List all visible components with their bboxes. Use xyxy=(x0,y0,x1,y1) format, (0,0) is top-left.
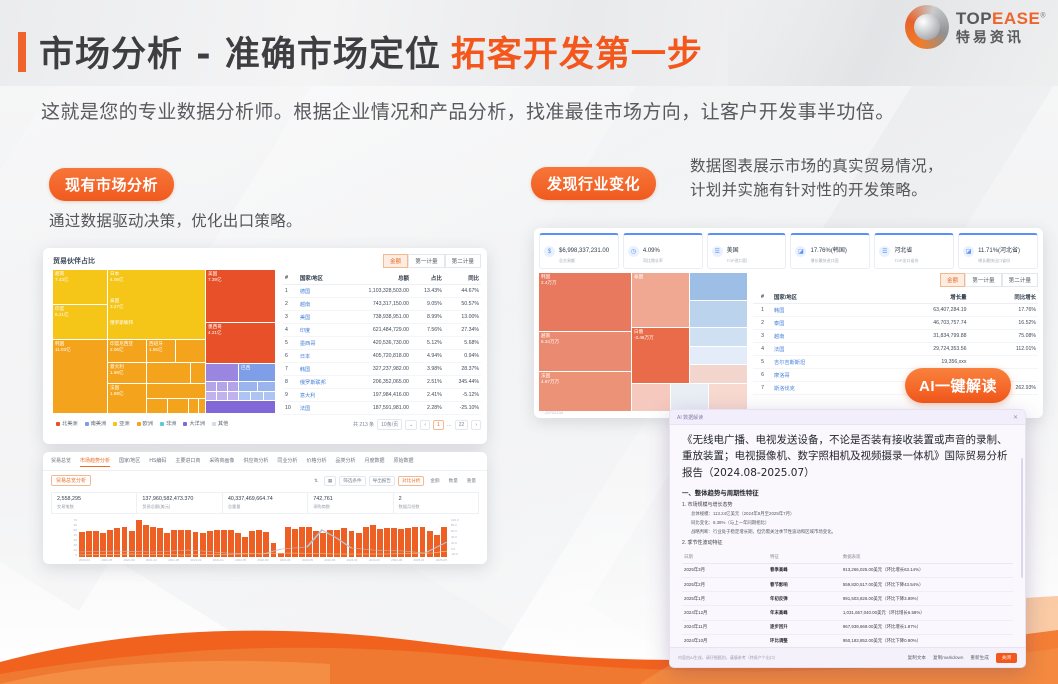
table-row[interactable]: 6日本405,720,818.004.94%0.94% xyxy=(283,350,481,363)
list-icon: ☰ xyxy=(712,246,723,257)
cell-yoy: 44.67% xyxy=(444,285,481,298)
tm-value: 7.43亿 xyxy=(55,277,69,283)
footer-disclaimer: 内容由AI生成，请仔细甄别，谨慎参考（特易产个出口） xyxy=(678,655,778,661)
x-tick: 2024-09 xyxy=(391,558,402,565)
cell-date: 2024年12月 xyxy=(682,606,768,620)
cell-yoy: 0.94% xyxy=(444,350,481,363)
kpi-label: 同比增长率 xyxy=(643,258,663,264)
table-row[interactable]: 3美国738,938,951.008.99%13.00% xyxy=(283,311,481,324)
cell-country[interactable]: 法国 xyxy=(772,343,867,356)
y2-tick: 100.0 xyxy=(451,518,477,522)
stat-value: 137,960,582,473.370 xyxy=(142,496,216,502)
table-row[interactable]: 4法国29,724,353.56112.01% xyxy=(753,343,1038,356)
cell-total: 621,484,729.00 xyxy=(343,324,410,337)
compare-button[interactable]: 对比分析 xyxy=(398,476,424,486)
legend-item: 大洋洲 xyxy=(183,420,205,427)
table-row[interactable]: 4印度621,484,729.007.56%27.34% xyxy=(283,324,481,337)
tm-value: 7.39亿 xyxy=(208,277,222,283)
pill-discover-industry-change: 发现行业变化 xyxy=(531,167,656,200)
cell-share: 2.51% xyxy=(411,376,444,389)
tm-value: 4.21亿 xyxy=(208,330,222,336)
partner-table: 金额 第一计量 第二计量 # 国家/地区 总额 占比 同比 1德国1,103,3… xyxy=(283,254,481,430)
tm-label: 俄罗斯联邦 xyxy=(110,320,133,326)
table-row[interactable]: 5吉尔吉斯斯坦19,356,xxx xyxy=(753,356,1038,369)
legend-label: 北美洲 xyxy=(62,420,78,427)
x-axis-labels: 2020-012020-052020-092021-012021-052021-… xyxy=(79,558,447,565)
dollar-icon: $ xyxy=(544,246,555,257)
stat-label: 交易笔数 xyxy=(57,504,131,510)
x-tick: 2020-05 xyxy=(101,558,112,565)
cell-yoy: 17.76% xyxy=(968,304,1038,317)
col-country: 国家/地区 xyxy=(298,271,344,285)
cell-total: 206,352,065.00 xyxy=(343,376,410,389)
cell-country[interactable]: 越南 xyxy=(298,298,344,311)
report-item-2: 2. 季节性波动特征 xyxy=(682,539,1013,546)
table-row[interactable]: 10法国187,591,981.002.28%-25.10% xyxy=(283,402,481,415)
legend-label: 非洲 xyxy=(166,420,176,427)
caption-right-line1: 数据图表展示市场的真实贸易情况， xyxy=(690,155,943,179)
tm-value: 1.55亿 xyxy=(149,347,163,353)
trend-line-overlay xyxy=(79,520,447,557)
regenerate-button[interactable]: 重新生成 xyxy=(970,655,988,661)
title-accent-text: 拓客开发第一步 xyxy=(451,26,703,77)
tm-value: 4.06亿 xyxy=(110,277,124,283)
dialog-footer: 内容由AI生成，请仔细甄别，谨慎参考（特易产个出口） 复制文本 复制markdo… xyxy=(670,647,1025,667)
segment-qty2[interactable]: 第二计量 xyxy=(445,254,481,268)
y-tick: 10 xyxy=(55,548,77,552)
x-tick: 2021-05 xyxy=(168,558,179,565)
monthly-trend-chart: 706050403020100 100.080.060.040.020.00.0… xyxy=(53,518,477,565)
stat-card: 2,558,295交易笔数 xyxy=(52,493,137,513)
kpi-card: $$6,998,337,231.00总交易额 xyxy=(539,233,619,269)
segment-amount[interactable]: 金额 xyxy=(940,273,965,287)
cell-country[interactable]: 美国 xyxy=(298,311,344,324)
table-row[interactable]: 3越南31,834,799.8875.08% xyxy=(753,330,1038,343)
sort-icon[interactable]: ⇅ xyxy=(311,477,321,485)
cell-index: 4 xyxy=(753,343,772,356)
cell-country[interactable]: 俄罗斯联邦 xyxy=(298,376,344,389)
dialog-header: AI 数据解读 ✕ xyxy=(670,410,1025,425)
kpi-card: ☰美国TOP进口国 xyxy=(707,233,787,269)
cell-data: 559,820,517.00美元（环比下降43.54%） xyxy=(841,577,1013,591)
kpi-card: ◪11.71%(河北省)增长最快出口省份 xyxy=(958,233,1038,269)
y-tick: 60 xyxy=(55,523,77,527)
cell-country[interactable]: 日本 xyxy=(298,350,344,363)
kpi-card: ◷4.09%同比增长率 xyxy=(623,233,703,269)
x-tick: 2021-01 xyxy=(146,558,157,565)
cell-country[interactable]: 斯洛伐克 xyxy=(772,382,867,395)
tab-供应商分析[interactable]: 供应商分析 xyxy=(243,457,268,467)
legend-item: 南美洲 xyxy=(85,420,107,427)
treemap-legend: 北美洲 南美洲 亚洲 欧洲 非洲 大洋洲 其他 xyxy=(56,420,228,427)
copy-markdown-button[interactable]: 复制markdown xyxy=(933,655,963,661)
col-total: 总额 xyxy=(343,271,410,285)
cell-country[interactable]: 意大利 xyxy=(298,389,344,402)
chevron-down-icon[interactable]: ⌄ xyxy=(405,420,417,430)
ai-interpret-badge[interactable]: AI一键解读 xyxy=(905,368,1011,403)
table-row[interactable]: 1韩国63,407,284.1917.76% xyxy=(753,304,1038,317)
cell-total: 743,317,150.00 xyxy=(343,298,410,311)
ai-report-dialog: AI 数据解读 ✕ 《无线电广播、电视发送设备，不论是否装有接收装置或声音的录制… xyxy=(669,409,1026,668)
pager-ellipsis: … xyxy=(447,422,452,428)
col-date: 日期 xyxy=(682,551,768,564)
x-tick: 2025-01 xyxy=(413,558,424,565)
pager-current[interactable]: 1 xyxy=(433,420,444,430)
table-row: 2024年11月逐步回升967,939,669.00美元（环比增长1.87%） xyxy=(682,620,1013,634)
table-row[interactable]: 1德国1,103,328,503.0013.43%44.67% xyxy=(283,285,481,298)
list-icon: ☰ xyxy=(879,246,890,257)
table-row: 2025年3月春季高峰913,266,025.00美元（环比增长63.14%） xyxy=(682,563,1013,577)
cell-date: 2025年1月 xyxy=(682,592,768,606)
tab-月度数据[interactable]: 月度数据 xyxy=(364,457,384,467)
pill-existing-market-analysis: 现有市场分析 xyxy=(49,168,174,201)
tm-value: 2.4万万 xyxy=(541,280,557,286)
legend-label: 大洋洲 xyxy=(189,420,205,427)
cell-share: 4.94% xyxy=(411,350,444,363)
cell-total: 1,103,328,503.00 xyxy=(343,285,410,298)
x-tick: 2022-05 xyxy=(235,558,246,565)
cell-index: 2 xyxy=(283,298,298,311)
table-header-row: # 国家/地区 总额 占比 同比 xyxy=(283,271,481,285)
col-yoy: 同比 xyxy=(444,271,481,285)
cell-country[interactable]: 越南 xyxy=(772,330,867,343)
report-title: 《无线电广播、电视发送设备，不论是否装有接收装置或声音的录制、重放装置；电视摄像… xyxy=(682,432,1013,481)
x-tick: 2023-05 xyxy=(302,558,313,565)
cell-yoy: 13.00% xyxy=(444,311,481,324)
table-row[interactable]: 2越南743,317,150.009.05%50.57% xyxy=(283,298,481,311)
x-tick: 2021-09 xyxy=(190,558,201,565)
cell-total: 738,938,951.00 xyxy=(343,311,410,324)
pager-total: 共 213 条 xyxy=(353,421,374,428)
cell-yoy: -5.12% xyxy=(444,389,481,402)
cell-total: 187,591,981.00 xyxy=(343,402,410,415)
report-item-1: 1. 市场规模与增长态势 xyxy=(682,501,1013,508)
stat-label: 采购商数 xyxy=(313,504,387,510)
y-tick: 30 xyxy=(55,538,77,542)
tab-HS编码[interactable]: HS编码 xyxy=(149,457,166,467)
pager-next[interactable]: › xyxy=(471,420,481,430)
cell-feature: 年初反弹 xyxy=(768,592,841,606)
cell-feature: 年末高峰 xyxy=(768,606,841,620)
logo-brand-top-1: TOP xyxy=(956,9,992,28)
cell-share: 9.05% xyxy=(411,298,444,311)
close-button[interactable]: 关闭 xyxy=(996,653,1017,663)
filter-button[interactable]: 筛选条件 xyxy=(339,476,365,486)
y2-tick: -20.0 xyxy=(451,552,477,556)
kpi-value: 17.76%(韩国) xyxy=(810,248,846,254)
cell-index: 1 xyxy=(753,304,772,317)
table-header-row: 日期 特征 数据表现 xyxy=(682,551,1013,564)
cell-data: 1,031,657,040.00美元（环比增长6.58%） xyxy=(841,606,1013,620)
cell-share: 3.98% xyxy=(411,363,444,376)
measure-segment-control-right[interactable]: 金额 第一计量 第二计量 xyxy=(753,273,1038,287)
table-row: 2025年2月春节影响559,820,517.00美元（环比下降43.54%） xyxy=(682,577,1013,591)
kpi-value: $6,998,337,231.00 xyxy=(559,248,609,254)
y2-tick: 60.0 xyxy=(451,529,477,533)
axis-note: -29702134 xyxy=(544,410,563,415)
table-row[interactable]: 8俄罗斯联邦206,352,065.002.51%345.44% xyxy=(283,376,481,389)
y-tick: 50 xyxy=(55,528,77,532)
tab-主要进口商[interactable]: 主要进口商 xyxy=(175,457,200,467)
overview-chip[interactable]: 贸易总览分析 xyxy=(51,475,91,486)
cell-index: 2 xyxy=(753,317,772,330)
kpi-card-row: $$6,998,337,231.00总交易额◷4.09%同比增长率☰美国TOP进… xyxy=(534,228,1043,273)
stat-card: 742,761采购商数 xyxy=(308,493,393,513)
analysis-tabbar[interactable]: 贸易总览市场趋势分析国家/地区HS编码主要进口商采购商画像供应商分析同业分析价格… xyxy=(43,452,487,471)
cell-country[interactable]: 印度 xyxy=(298,324,344,337)
caption-right-line2: 计划并实施有针对性的开发策略。 xyxy=(690,179,943,203)
cell-yoy: 28.37% xyxy=(444,363,481,376)
tab-国家/地区[interactable]: 国家/地区 xyxy=(119,457,140,467)
cell-country[interactable]: 墨西哥 xyxy=(298,337,344,350)
tab-原始数据[interactable]: 原始数据 xyxy=(393,457,413,467)
stat-label: 贸易总额(美元) xyxy=(142,504,216,510)
y2-tick: 20.0 xyxy=(451,541,477,545)
y-tick: 0 xyxy=(55,553,77,557)
grid-icon[interactable]: ▦ xyxy=(324,476,336,486)
cell-data: 967,939,669.00美元（环比增长1.87%） xyxy=(841,620,1013,634)
kpi-label: TOP进口国 xyxy=(727,258,747,264)
kpi-label: TOP出口省份 xyxy=(894,258,918,264)
report-item-1-line-2: 同比变化：8.38%（与上一年同期相比） xyxy=(682,520,1013,526)
kpi-label: 增长最快出口省份 xyxy=(978,258,1020,264)
cell-yoy: 50.57% xyxy=(444,298,481,311)
cell-country[interactable]: 摩洛哥 xyxy=(772,369,867,382)
cell-date: 2025年2月 xyxy=(682,577,768,591)
link-weight[interactable]: 重量 xyxy=(464,477,479,485)
cell-yoy: -25.10% xyxy=(444,402,481,415)
kpi-card: ☰河北省TOP出口省份 xyxy=(874,233,954,269)
legend-label: 其他 xyxy=(218,420,228,427)
pager-last[interactable]: 22 xyxy=(455,420,469,430)
tm-value: 3.27亿 xyxy=(110,304,124,310)
cell-share: 7.56% xyxy=(411,324,444,337)
tm-value: 1.98亿 xyxy=(110,370,124,376)
logo-brand-top-2: EASE xyxy=(992,9,1040,28)
cell-share: 5.12% xyxy=(411,337,444,350)
tab-市场趋势分析[interactable]: 市场趋势分析 xyxy=(80,457,110,467)
cell-index: 9 xyxy=(283,389,298,402)
cell-index: 7 xyxy=(753,382,772,395)
summary-stats: 2,558,295交易笔数137,960,582,473.370贸易总额(美元)… xyxy=(51,492,479,514)
brand-logo: TOPEASE® 特易资讯 xyxy=(905,5,1046,49)
pager-prev[interactable]: ‹ xyxy=(420,420,430,430)
cell-country[interactable]: 吉尔吉斯斯坦 xyxy=(772,356,867,369)
cell-share: 2.28% xyxy=(411,402,444,415)
cell-country[interactable]: 泰国 xyxy=(772,317,867,330)
chart-icon: ◪ xyxy=(963,246,974,257)
kpi-label: 增长最快进口国 xyxy=(810,258,846,264)
cell-yoy: 27.34% xyxy=(444,324,481,337)
kpi-card: ◪17.76%(韩国)增长最快进口国 xyxy=(790,233,870,269)
legend-item: 欧洲 xyxy=(137,420,153,427)
seasonality-table: 日期 特征 数据表现 2025年3月春季高峰913,266,025.00美元（环… xyxy=(682,551,1013,649)
cell-index: 3 xyxy=(753,330,772,343)
table-row[interactable]: 2泰国46,703,757.7416.52% xyxy=(753,317,1038,330)
cell-growth: 46,703,757.74 xyxy=(867,317,968,330)
x-tick: 2022-09 xyxy=(257,558,268,565)
cell-growth: 19,356,xxx xyxy=(867,356,968,369)
tab-同业分析[interactable]: 同业分析 xyxy=(277,457,297,467)
col-country: 国家/地区 xyxy=(772,290,867,304)
tm-label: 泰国 xyxy=(634,274,643,280)
segment-qty2[interactable]: 第二计量 xyxy=(1002,273,1038,287)
table-row: 2024年12月年末高峰1,031,657,040.00美元（环比增长6.58%… xyxy=(682,606,1013,620)
cell-country[interactable]: 德国 xyxy=(298,285,344,298)
stat-card: 137,960,582,473.370贸易总额(美元) xyxy=(137,493,222,513)
tm-value: 11.03亿 xyxy=(55,347,71,353)
cell-total: 420,536,730.00 xyxy=(343,337,410,350)
clock-icon: ◷ xyxy=(628,246,639,257)
stat-value: 2,558,295 xyxy=(57,496,131,502)
x-tick: 2025-05 xyxy=(436,558,447,565)
cell-index: 1 xyxy=(283,285,298,298)
link-amount[interactable]: 金额 xyxy=(427,477,442,485)
cell-total: 197,984,416.00 xyxy=(343,389,410,402)
cell-index: 3 xyxy=(283,311,298,324)
x-tick: 2020-01 xyxy=(79,558,90,565)
cell-yoy: 345.44% xyxy=(444,376,481,389)
cell-share: 2.41% xyxy=(411,389,444,402)
cell-date: 2025年3月 xyxy=(682,563,768,577)
caption-right: 数据图表展示市场的真实贸易情况， 计划并实施有针对性的开发策略。 xyxy=(690,155,943,203)
kpi-value: 4.09% xyxy=(643,248,660,254)
kpi-value: 美国 xyxy=(727,248,739,254)
page-title: 市场分析 - 准确市场定位 拓客开发第一步 xyxy=(18,26,703,77)
tab-价格分析[interactable]: 价格分析 xyxy=(306,457,326,467)
legend-label: 欧洲 xyxy=(143,420,153,427)
table-header-row: # 国家/地区 增长量 同比增长 xyxy=(753,290,1038,304)
table-row: 2025年1月年初反弹991,503,826.00美元（环比下降3.89%） xyxy=(682,592,1013,606)
cell-yoy xyxy=(968,356,1038,369)
cell-date: 2024年11月 xyxy=(682,620,768,634)
table-row[interactable]: 9意大利197,984,416.002.41%-5.12% xyxy=(283,389,481,402)
kpi-value: 11.71%(河北省) xyxy=(978,248,1020,254)
col-data: 数据表现 xyxy=(841,551,1013,564)
tab-贸易总览[interactable]: 贸易总览 xyxy=(51,457,71,467)
cell-total: 405,720,818.00 xyxy=(343,350,410,363)
kpi-value: 河北省 xyxy=(894,248,912,254)
stat-card: 2数据月份数 xyxy=(394,493,478,513)
legend-item: 北美洲 xyxy=(56,420,78,427)
report-section-heading: 一、整体趋势与周期性特征 xyxy=(682,488,1013,497)
copy-text-button[interactable]: 复制文本 xyxy=(908,655,926,661)
y-tick: 40 xyxy=(55,533,77,537)
stat-label: 总重量 xyxy=(228,504,302,510)
x-tick: 2024-01 xyxy=(347,558,358,565)
legend-item: 其他 xyxy=(212,420,228,427)
cell-yoy: 5.68% xyxy=(444,337,481,350)
table-pager[interactable]: 共 213 条 10条/页 ⌄ ‹ 1 … 22 › xyxy=(283,419,481,430)
export-button[interactable]: 导出报告 xyxy=(369,476,395,486)
table-row[interactable]: 7韩国327,237,982.003.98%28.37% xyxy=(283,363,481,376)
tab-采购商画像[interactable]: 采购商画像 xyxy=(209,457,234,467)
cell-data: 913,266,025.00美元（环比增长63.14%） xyxy=(841,563,1013,577)
col-growth: 增长量 xyxy=(867,290,968,304)
col-yoy: 同比增长 xyxy=(968,290,1038,304)
legend-item: 非洲 xyxy=(160,420,176,427)
col-index: # xyxy=(283,271,298,285)
cell-country[interactable]: 法国 xyxy=(298,402,344,415)
cell-country[interactable]: 韩国 xyxy=(298,363,344,376)
segment-qty1[interactable]: 第一计量 xyxy=(965,273,1001,287)
cell-country[interactable]: 韩国 xyxy=(772,304,867,317)
trend-screenshot-panel: 贸易总览市场趋势分析国家/地区HS编码主要进口商采购商画像供应商分析同业分析价格… xyxy=(43,452,487,564)
cell-growth: 63,407,284.19 xyxy=(867,304,968,317)
caption-left: 通过数据驱动决策，优化出口策略。 xyxy=(49,210,302,234)
ring-logo-icon xyxy=(905,5,949,49)
table-row[interactable]: 5墨西哥420,536,730.005.12%5.68% xyxy=(283,337,481,350)
col-feature: 特征 xyxy=(768,551,841,564)
title-accent-bar xyxy=(18,32,26,72)
col-share: 占比 xyxy=(411,271,444,285)
dialog-title: AI 数据解读 xyxy=(677,414,703,421)
x-tick: 2023-09 xyxy=(324,558,335,565)
y-axis-left: 706050403020100 xyxy=(55,518,77,557)
tm-value: 1.88亿 xyxy=(110,391,124,397)
segment-qty1[interactable]: 第一计量 xyxy=(408,254,444,268)
cell-growth: 31,834,799.88 xyxy=(867,330,968,343)
x-tick: 2024-05 xyxy=(369,558,380,565)
cell-feature: 春季高峰 xyxy=(768,563,841,577)
close-icon[interactable]: ✕ xyxy=(1013,414,1018,421)
cell-growth: 29,724,353.56 xyxy=(867,343,968,356)
cell-yoy: 75.08% xyxy=(968,330,1038,343)
growth-treemap: 韩国 2.4万万 越南 6.34万万 法国 4.67万万 泰国 xyxy=(539,273,747,411)
page-subtitle: 这就是您的专业数据分析师。根据企业情况和产品分析，找准最佳市场方向，让客户开发事… xyxy=(41,97,895,124)
panel-actions[interactable]: ⇅ ▦ 筛选条件 导出报告 对比分析 金额 数量 重量 xyxy=(311,476,479,486)
cell-yoy: 112.01% xyxy=(968,343,1038,356)
stat-card: 40,337,469,664.74总重量 xyxy=(223,493,308,513)
tm-value: 4.67万万 xyxy=(541,379,559,385)
pager-page-size[interactable]: 10条/页 xyxy=(377,419,402,430)
y-axis-right: 100.080.060.040.020.00.0-20.0 xyxy=(451,518,477,557)
y2-tick: 80.0 xyxy=(451,523,477,527)
title-main-text: 市场分析 - 准确市场定位 xyxy=(39,26,441,77)
report-item-1-line-3: 战略判断：行业处于稳定增长期，但仍需关注季节性波动和区域市场变化。 xyxy=(682,529,1013,535)
treemap-screenshot-panel: 贸易伙伴占比 ▦ ◉ ⤓ 越南 7.43亿 印度 6.21亿 日本 xyxy=(43,248,487,444)
link-quantity[interactable]: 数量 xyxy=(446,477,461,485)
legend-label: 亚洲 xyxy=(119,420,129,427)
cell-total: 327,237,982.00 xyxy=(343,363,410,376)
tm-value: 2.06亿 xyxy=(110,347,124,353)
tab-品类分析[interactable]: 品类分析 xyxy=(335,457,355,467)
cell-index: 10 xyxy=(283,402,298,415)
legend-label: 南美洲 xyxy=(91,420,107,427)
y2-tick: 0.0 xyxy=(451,547,477,551)
cell-index: 6 xyxy=(753,369,772,382)
tm-label: 巴西 xyxy=(241,365,250,371)
cell-share: 13.43% xyxy=(411,285,444,298)
y2-tick: 40.0 xyxy=(451,535,477,539)
segment-amount[interactable]: 金额 xyxy=(383,254,408,268)
dialog-scrollbar[interactable] xyxy=(1021,458,1024,578)
stat-label: 数据月份数 xyxy=(399,504,473,510)
report-item-1-line-1: 总体规模：113.24亿美元（2024年8月至2025年7月） xyxy=(682,511,1013,517)
logo-registered-mark: ® xyxy=(1040,12,1046,19)
cell-index: 8 xyxy=(283,376,298,389)
cell-yoy: 16.52% xyxy=(968,317,1038,330)
cell-index: 5 xyxy=(753,356,772,369)
x-tick: 2023-01 xyxy=(280,558,291,565)
x-tick: 2022-01 xyxy=(213,558,224,565)
cell-data: 991,503,826.00美元（环比下降3.89%） xyxy=(841,592,1013,606)
stat-value: 2 xyxy=(399,496,473,502)
chart-icon: ◪ xyxy=(795,246,806,257)
y-tick: 20 xyxy=(55,543,77,547)
measure-segment-control[interactable]: 金额 第一计量 第二计量 xyxy=(283,254,481,268)
col-index: # xyxy=(753,290,772,304)
